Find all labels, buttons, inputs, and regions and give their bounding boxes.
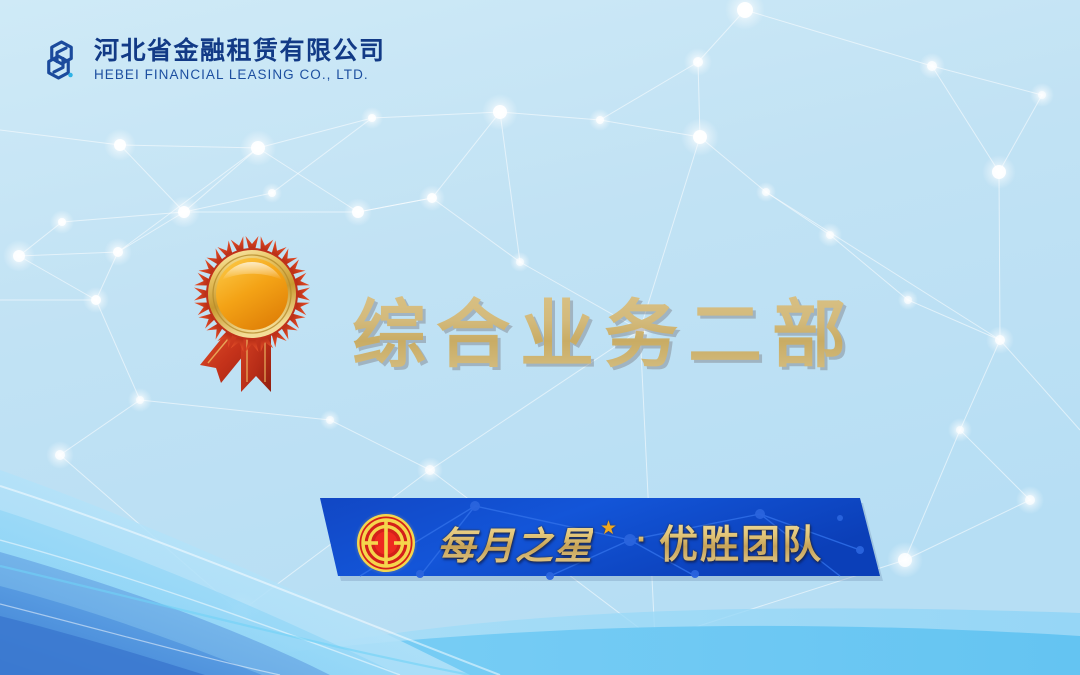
company-logo: 河北省金融租赁有限公司 HEBEI FINANCIAL LEASING CO.,… (36, 36, 386, 84)
award-banner: 每月之星 ★ · 优胜团队 (300, 488, 900, 598)
award-phrase: 每月之星 ★ · 优胜团队 (437, 506, 823, 578)
page-title-text: 综合业务二部 (352, 275, 856, 382)
china-trade-union-emblem-icon (354, 511, 418, 575)
slide-canvas: 河北省金融租赁有限公司 HEBEI FINANCIAL LEASING CO.,… (0, 0, 1080, 675)
hexagon-interlock-logo-icon (36, 36, 84, 84)
award-phrase-separator: · (636, 525, 646, 555)
award-phrase-right: 优胜团队 (659, 514, 823, 570)
award-rosette-icon (186, 232, 318, 398)
award-banner-content: 每月之星 ★ · 优胜团队 (300, 488, 900, 598)
page-title: 综合业务二部 (352, 282, 872, 374)
company-name-block: 河北省金融租赁有限公司 HEBEI FINANCIAL LEASING CO.,… (94, 38, 386, 82)
company-name-en: HEBEI FINANCIAL LEASING CO., LTD. (94, 68, 386, 82)
star-icon: ★ (600, 517, 617, 540)
company-name-cn: 河北省金融租赁有限公司 (94, 38, 386, 63)
award-phrase-left: 每月之星 (437, 515, 593, 570)
